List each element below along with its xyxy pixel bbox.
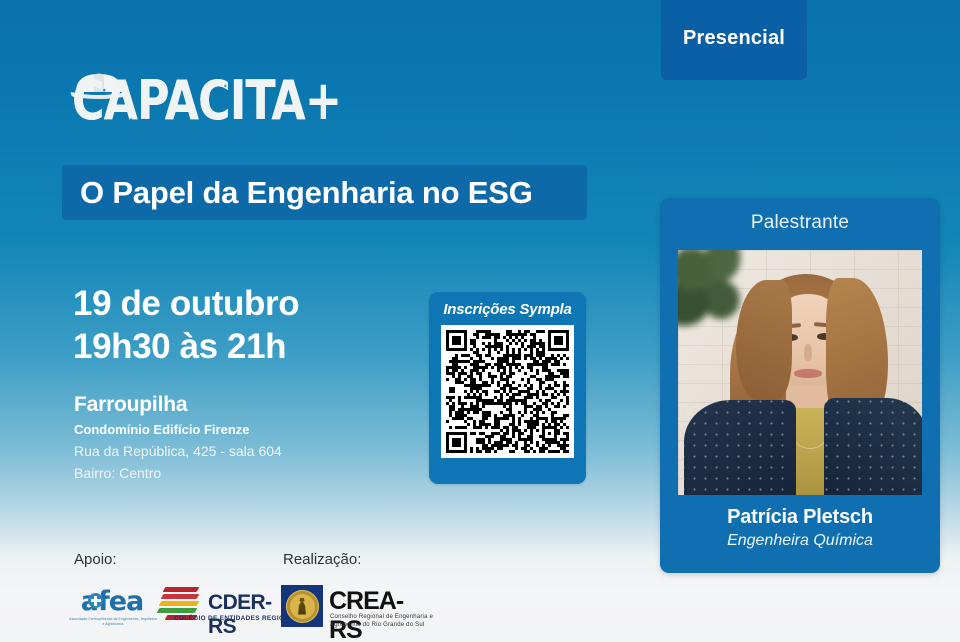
brand-logo-text: CAPACITA+ <box>72 74 341 128</box>
registration-label: Inscrições Sympla <box>443 301 571 318</box>
speaker-card: Palestrante Patrícia Pletsch Engenheira … <box>660 198 940 573</box>
event-venue: Farroupilha Condomínio Edifício Firenze … <box>74 392 414 484</box>
event-date: 19 de outubro <box>73 282 413 325</box>
photo-lips <box>794 369 822 378</box>
modality-badge: Presencial <box>661 0 807 80</box>
photo-nose <box>804 344 812 361</box>
crea-seal-icon <box>281 585 323 627</box>
cross-icon <box>88 593 103 608</box>
logo-cder-rs: CDER-RS COLÉGIO DE ENTIDADES REGIONAIS <box>158 585 288 635</box>
event-poster: Presencial CAPACITA+ O Papel da Engenhar… <box>0 0 960 642</box>
speaker-name: Patrícia Pletsch <box>660 506 940 529</box>
venue-neighborhood: Bairro: Centro <box>74 462 414 484</box>
venue-city: Farroupilha <box>74 392 414 418</box>
brand-logo: CAPACITA+ <box>72 74 402 138</box>
event-title-banner: O Papel da Engenharia no ESG <box>62 165 587 220</box>
realization-label: Realização: <box>283 551 361 568</box>
logo-crea-rs: CREA-RS Conselho Regional de Engenharia … <box>281 585 431 635</box>
venue-street: Rua da República, 425 - sala 604 <box>74 440 414 462</box>
speaker-section-label: Palestrante <box>660 198 940 234</box>
page-title: O Papel da Engenharia no ESG <box>80 175 533 211</box>
logo-crea-subtitle: Conselho Regional de Engenharia e Agrono… <box>330 613 450 629</box>
event-time: 19h30 às 21h <box>73 325 413 368</box>
logo-afea-subtitle: Associação Farroupilhense de Engenheiros… <box>68 617 158 627</box>
logo-afea: afea Associação Farroupilhense de Engenh… <box>68 588 156 634</box>
registration-qr-card[interactable]: Inscrições Sympla <box>429 292 586 484</box>
speaker-role: Engenheira Química <box>660 532 940 550</box>
speaker-photo <box>678 250 922 495</box>
logo-afea-word: afea <box>68 588 156 616</box>
event-datetime: 19 de outubro 19h30 às 21h <box>73 282 413 368</box>
venue-building: Condomínio Edifício Firenze <box>74 420 414 440</box>
qr-code-canvas[interactable] <box>446 330 569 453</box>
photo-hair-front-left <box>736 280 792 400</box>
support-label: Apoio: <box>74 551 117 568</box>
modality-badge-label: Presencial <box>683 27 785 50</box>
qr-code-icon[interactable] <box>441 325 574 458</box>
photo-blazer-pattern <box>678 396 922 495</box>
